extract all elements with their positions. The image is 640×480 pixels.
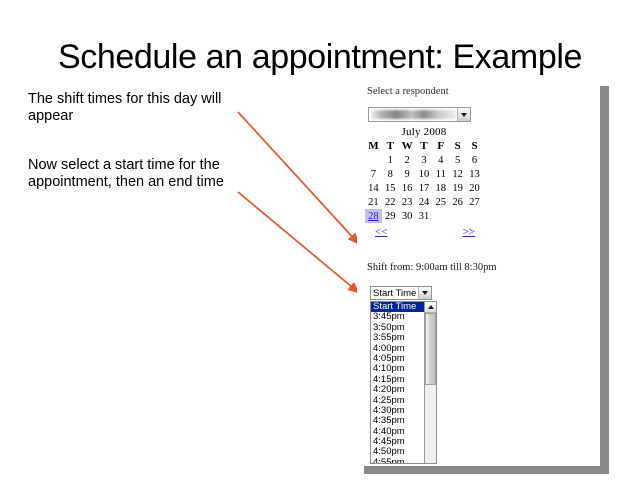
calendar-day-label[interactable]: 5	[455, 155, 460, 166]
chevron-up-icon[interactable]	[425, 302, 436, 313]
calendar-day-label[interactable]: 13	[469, 169, 480, 180]
screenshot-shadow-bottom	[364, 465, 609, 474]
calendar-day-cell[interactable]: 21	[365, 195, 382, 209]
calendar-month-label: July 2008	[365, 126, 483, 139]
calendar-day-cell[interactable]: 5	[449, 153, 466, 167]
calendar-week-row: 28 29 30 31	[365, 209, 483, 223]
calendar-day-cell[interactable]: 10	[416, 167, 433, 181]
calendar-weekday: S	[466, 139, 483, 153]
calendar-day-label[interactable]: 6	[472, 155, 477, 166]
calendar-day-cell[interactable]: 31	[416, 209, 433, 223]
calendar-day-cell[interactable]: 29	[382, 209, 399, 223]
calendar-day-cell[interactable]: 22	[382, 195, 399, 209]
calendar-day-label[interactable]: 15	[385, 183, 396, 194]
calendar-day-cell[interactable]: 11	[432, 167, 449, 181]
calendar-day-label[interactable]: 24	[419, 197, 430, 208]
list-item[interactable]: 4:55pm	[371, 458, 424, 463]
calendar-day-label[interactable]: 2	[404, 155, 409, 166]
calendar-week-row: 21 22 23 24 25 26 27	[365, 195, 483, 209]
calendar-day-cell[interactable]: 6	[466, 153, 483, 167]
calendar-weekday: S	[449, 139, 466, 153]
calendar-day-label[interactable]: 22	[385, 197, 396, 208]
calendar-next-month-link[interactable]: >>	[463, 226, 475, 238]
calendar-day-label[interactable]: 29	[385, 211, 396, 222]
page-title: Schedule an appointment: Example	[0, 38, 640, 77]
annotation-select-start-time: Now select a start time for the appointm…	[28, 157, 253, 191]
list-item[interactable]: 4:20pm	[371, 385, 424, 395]
calendar-day-cell[interactable]: 30	[399, 209, 416, 223]
respondent-label: Select a respondent	[367, 86, 449, 97]
calendar-day-cell[interactable]: 27	[466, 195, 483, 209]
calendar-weekday-header-row: M T W T F S S	[365, 139, 483, 153]
arrow-to-start-time-combo	[238, 192, 358, 292]
calendar-day-cell[interactable]: 20	[466, 181, 483, 195]
start-time-option-list: Start Time 3:45pm 3:50pm 3:55pm 4:00pm 4…	[371, 302, 424, 463]
calendar-day-label[interactable]: 30	[402, 211, 413, 222]
embedded-screenshot: Select a respondent July 2008 M T W T F …	[357, 80, 600, 466]
calendar-day-label[interactable]: 25	[436, 197, 447, 208]
calendar-day-label[interactable]: 16	[402, 183, 413, 194]
calendar-day-cell[interactable]: 17	[416, 181, 433, 195]
calendar-day-cell[interactable]: 3	[416, 153, 433, 167]
calendar-day-cell[interactable]: 2	[399, 153, 416, 167]
calendar-day-cell[interactable]: 1	[382, 153, 399, 167]
chevron-down-icon[interactable]	[418, 287, 431, 299]
calendar-weekday: T	[416, 139, 433, 153]
calendar-day-label[interactable]: 7	[371, 169, 376, 180]
calendar-day-cell	[365, 153, 382, 167]
arrow-to-calendar-nav	[238, 112, 358, 243]
calendar-week-row: 7 8 9 10 11 12 13	[365, 167, 483, 181]
calendar-day-cell	[449, 209, 466, 223]
start-time-select[interactable]: Start Time	[370, 286, 432, 300]
calendar-widget: July 2008 M T W T F S S 1 2 3	[365, 126, 483, 242]
shift-info-text: Shift from: 9:00am till 8:30pm	[367, 262, 497, 273]
respondent-selected-value	[371, 110, 456, 119]
calendar-day-label[interactable]: 1	[388, 155, 393, 166]
calendar-day-label[interactable]: 12	[452, 169, 463, 180]
calendar-prev-month-link[interactable]: <<	[375, 226, 387, 238]
start-time-selected-value: Start Time	[371, 288, 418, 299]
calendar-day-label[interactable]: 26	[452, 197, 463, 208]
list-item[interactable]: 3:55pm	[371, 333, 424, 343]
calendar-day-cell[interactable]: 19	[449, 181, 466, 195]
calendar-day-label[interactable]: 10	[419, 169, 430, 180]
calendar-day-cell[interactable]: 12	[449, 167, 466, 181]
calendar-week-row: 14 15 16 17 18 19 20	[365, 181, 483, 195]
respondent-select[interactable]	[368, 107, 471, 122]
calendar-day-label[interactable]: 11	[436, 169, 446, 180]
calendar-day-cell	[466, 209, 483, 223]
calendar-day-label[interactable]: 28	[368, 211, 379, 222]
calendar-day-cell[interactable]: 7	[365, 167, 382, 181]
calendar-day-cell[interactable]: 25	[432, 195, 449, 209]
scrollbar-thumb[interactable]	[425, 313, 436, 385]
calendar-day-cell[interactable]: 9	[399, 167, 416, 181]
calendar-day-label[interactable]: 3	[421, 155, 426, 166]
calendar-day-cell[interactable]: 8	[382, 167, 399, 181]
listbox-scrollbar[interactable]	[424, 302, 436, 463]
calendar-weekday: M	[365, 139, 382, 153]
screenshot-shadow-right	[600, 86, 609, 474]
calendar-weekday: T	[382, 139, 399, 153]
calendar-day-label[interactable]: 9	[404, 169, 409, 180]
calendar-day-label[interactable]: 27	[469, 197, 480, 208]
calendar-day-cell	[432, 209, 449, 223]
calendar-day-cell[interactable]: 24	[416, 195, 433, 209]
calendar-grid: M T W T F S S 1 2 3 4 5 6	[365, 139, 483, 223]
calendar-day-label[interactable]: 19	[452, 183, 463, 194]
calendar-navigation: << >>	[365, 226, 483, 242]
calendar-day-cell[interactable]: 15	[382, 181, 399, 195]
start-time-listbox[interactable]: Start Time 3:45pm 3:50pm 3:55pm 4:00pm 4…	[370, 301, 437, 464]
calendar-day-cell[interactable]: 18	[432, 181, 449, 195]
calendar-day-cell[interactable]: 23	[399, 195, 416, 209]
chevron-down-icon[interactable]	[457, 108, 470, 121]
calendar-day-label[interactable]: 8	[388, 169, 393, 180]
calendar-day-cell[interactable]: 4	[432, 153, 449, 167]
calendar-week-row: 1 2 3 4 5 6	[365, 153, 483, 167]
calendar-day-cell-selected[interactable]: 28	[365, 209, 382, 223]
calendar-day-label[interactable]: 17	[419, 183, 430, 194]
annotation-shift-times: The shift times for this day will appear	[28, 91, 243, 125]
calendar-weekday: W	[399, 139, 416, 153]
calendar-day-cell[interactable]: 26	[449, 195, 466, 209]
calendar-day-label[interactable]: 31	[419, 211, 430, 222]
calendar-day-label[interactable]: 23	[402, 197, 413, 208]
calendar-day-label[interactable]: 14	[368, 183, 379, 194]
calendar-day-label[interactable]: 18	[436, 183, 447, 194]
calendar-day-cell[interactable]: 13	[466, 167, 483, 181]
calendar-day-label[interactable]: 20	[469, 183, 480, 194]
calendar-day-label[interactable]: 21	[368, 197, 379, 208]
calendar-day-cell[interactable]: 16	[399, 181, 416, 195]
calendar-day-cell[interactable]: 14	[365, 181, 382, 195]
calendar-weekday: F	[432, 139, 449, 153]
calendar-day-label[interactable]: 4	[438, 155, 443, 166]
